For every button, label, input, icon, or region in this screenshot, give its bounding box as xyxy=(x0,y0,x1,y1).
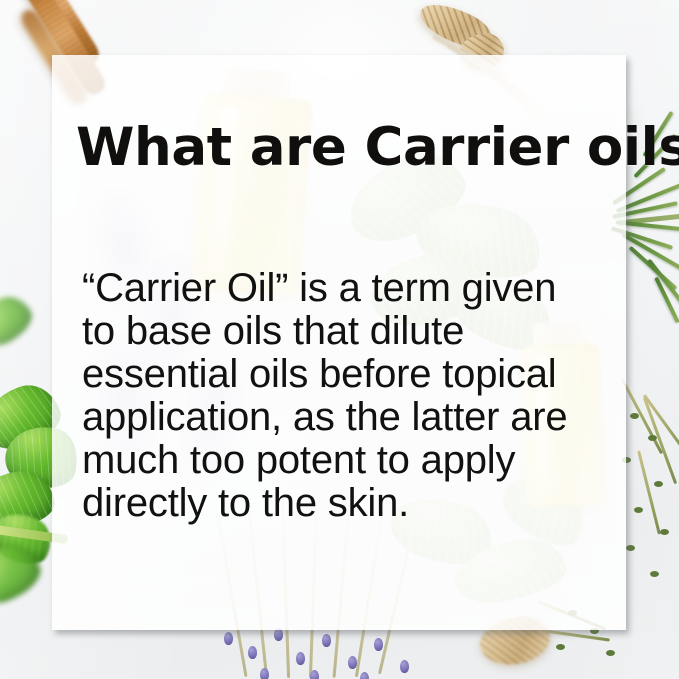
body-line: essential oils before topical xyxy=(82,353,602,396)
body-line: to base oils that dilute xyxy=(82,310,602,353)
body-line: “Carrier Oil” is a term given xyxy=(82,267,602,310)
page-title: What are Carrier oils ? xyxy=(76,121,679,174)
card-body-text: “Carrier Oil” is a term given to base oi… xyxy=(82,267,602,525)
info-card-panel: What are Carrier oils ? “Carrier Oil” is… xyxy=(52,55,626,630)
body-line: much too potent to apply xyxy=(82,439,602,482)
infographic-image: What are Carrier oils ? “Carrier Oil” is… xyxy=(0,0,679,679)
body-line: directly to the skin. xyxy=(82,482,602,525)
body-line: application, as the latter are xyxy=(82,396,602,439)
